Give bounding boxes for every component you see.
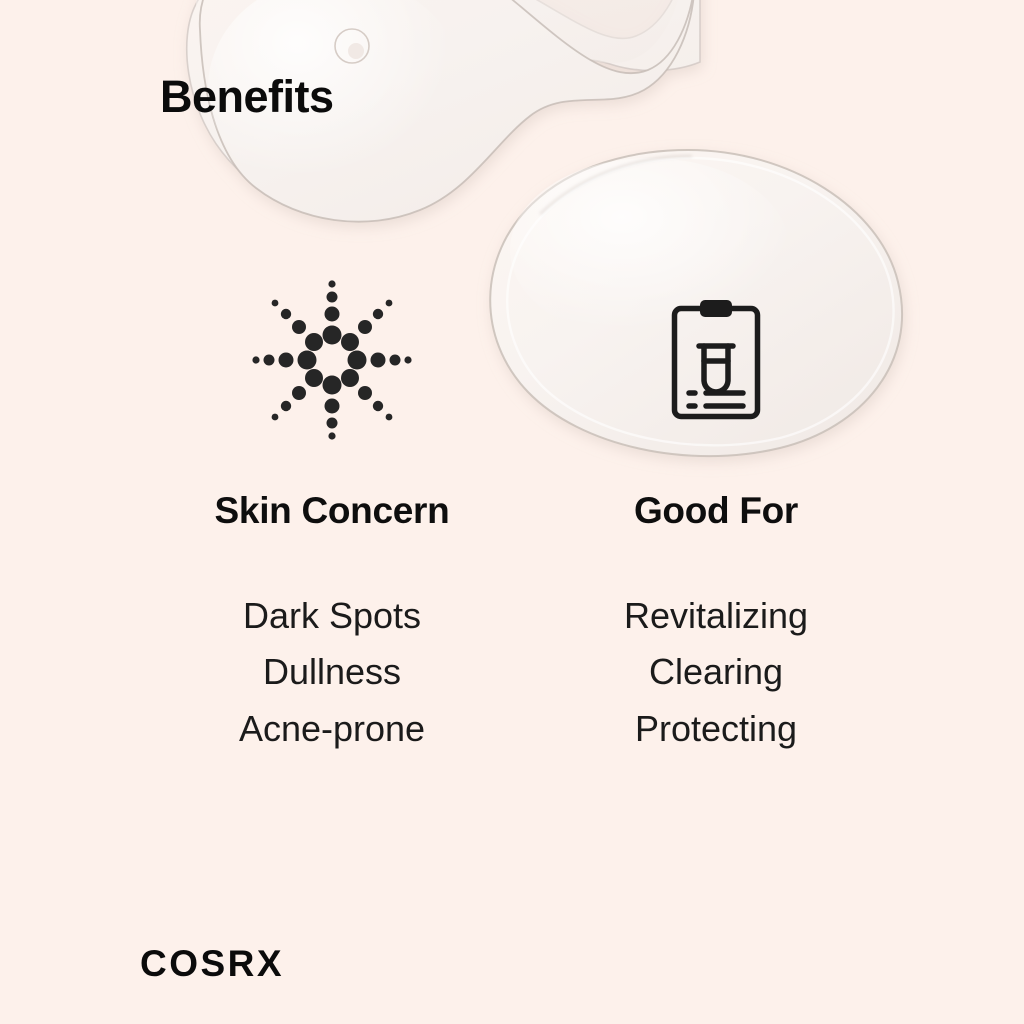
clipboard-test-tube-icon (670, 280, 762, 440)
list-item: Protecting (624, 701, 808, 758)
benefit-columns: Skin Concern Dark Spots Dullness Acne-pr… (0, 280, 1024, 758)
list-item: Dark Spots (239, 588, 425, 645)
benefit-list-skin-concern: Dark Spots Dullness Acne-prone (239, 588, 425, 759)
brand-logo: COSRX (140, 945, 284, 982)
benefits-infographic: Benefits (0, 0, 1024, 1024)
list-item: Acne-prone (239, 701, 425, 758)
benefit-column-skin-concern: Skin Concern Dark Spots Dullness Acne-pr… (162, 280, 502, 758)
benefit-list-good-for: Revitalizing Clearing Protecting (624, 588, 808, 759)
column-heading-skin-concern: Skin Concern (215, 492, 450, 531)
list-item: Dullness (239, 644, 425, 701)
page-title: Benefits (160, 74, 334, 119)
column-heading-good-for: Good For (634, 492, 798, 531)
sparkle-burst-icon (247, 280, 417, 440)
list-item: Revitalizing (624, 588, 808, 645)
benefit-column-good-for: Good For Revitalizing Clearing Protectin… (546, 280, 886, 758)
list-item: Clearing (624, 644, 808, 701)
gel-blob-top-tail (560, 0, 844, 120)
gel-bubble (335, 29, 369, 63)
